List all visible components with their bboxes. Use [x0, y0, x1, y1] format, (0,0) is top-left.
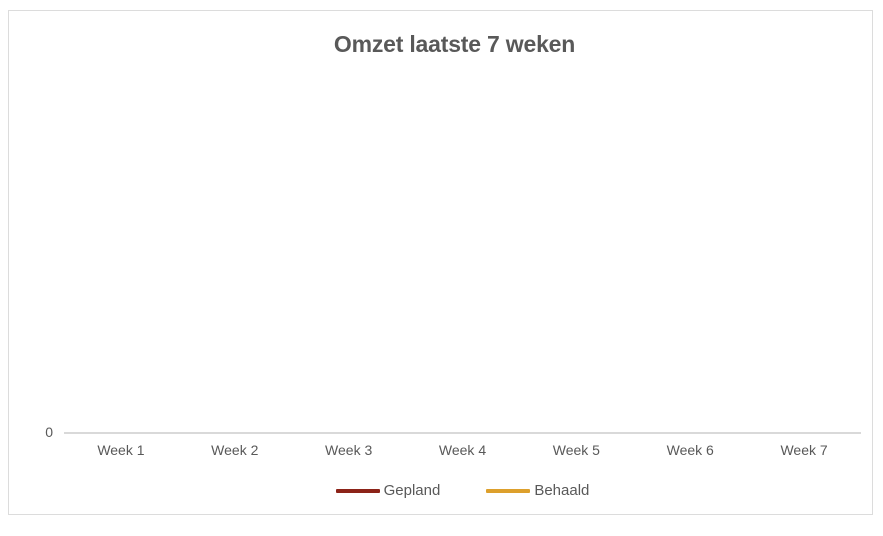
x-axis-tick-label-week-1: Week 1 — [64, 441, 178, 460]
chart-title: Omzet laatste 7 weken — [56, 31, 853, 58]
x-axis-tick-label-week-5: Week 5 — [519, 441, 633, 460]
legend-label-gepland: Gepland — [384, 483, 441, 498]
legend-line-swatch-icon — [336, 489, 380, 493]
legend-item-behaald[interactable]: Behaald — [486, 483, 589, 498]
chart-legend: Gepland Behaald — [64, 483, 861, 498]
x-axis-line — [64, 432, 861, 434]
y-axis-tick-label: 0 — [9, 425, 53, 439]
y-axis-tick-labels: 0 — [9, 11, 53, 536]
x-axis-tick-label-week-7: Week 7 — [747, 441, 861, 460]
series-layer — [64, 63, 861, 432]
legend-line-swatch-icon — [486, 489, 530, 493]
legend-item-gepland[interactable]: Gepland — [336, 483, 441, 498]
x-axis-tick-label-week-6: Week 6 — [633, 441, 747, 460]
x-axis-tick-label-week-3: Week 3 — [292, 441, 406, 460]
series-svg — [64, 63, 861, 432]
legend-label-behaald: Behaald — [534, 483, 589, 498]
x-axis-tick-labels: Week 1 Week 2 Week 3 Week 4 Week 5 Week … — [64, 441, 861, 460]
x-axis-tick-label-week-2: Week 2 — [178, 441, 292, 460]
chart-container: Omzet laatste 7 weken 0 Week 1 Week 2 We… — [8, 10, 873, 515]
x-axis-tick-label-week-4: Week 4 — [406, 441, 520, 460]
plot-area — [64, 63, 861, 432]
